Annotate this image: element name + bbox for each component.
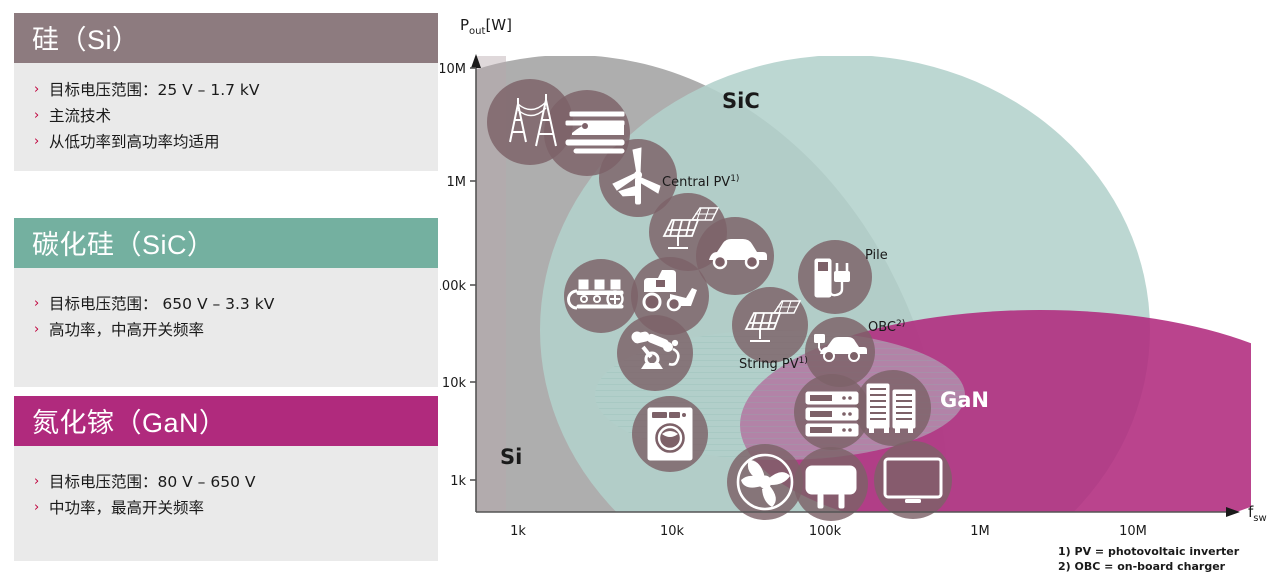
list-item: › 目标电压范围： 650 V – 3.3 kV <box>34 294 424 314</box>
node-label-central-pv: Central PV1) <box>662 174 739 190</box>
chevron-right-icon: › <box>34 294 49 313</box>
server-rack-icon <box>806 392 858 436</box>
card-si-bullet-2: 主流技术 <box>49 106 111 126</box>
footnote-1: 1) PV = photovoltaic inverter <box>1058 545 1240 558</box>
chevron-right-icon: › <box>34 132 49 151</box>
list-item: › 目标电压范围：25 V – 1.7 kV <box>34 80 424 100</box>
material-cards-panel: 硅（Si） › 目标电压范围：25 V – 1.7 kV › 主流技术 › 从低… <box>14 13 438 573</box>
card-gan-bullet-2: 中功率，最高开关频率 <box>49 498 204 518</box>
y-tick-100k: 100k <box>440 279 466 294</box>
x-axis-title: fsw[Hz] <box>1248 503 1267 524</box>
y-axis-ticks: 10M 1M 100k 10k 1k <box>440 62 476 489</box>
bubble-string-pv[interactable] <box>732 287 808 363</box>
list-item: › 从低功率到高功率均适用 <box>34 132 424 152</box>
footnote-2: 2) OBC = on-board charger <box>1058 560 1226 573</box>
card-gan-body: › 目标电压范围：80 V – 650 V › 中功率，最高开关频率 <box>14 446 438 561</box>
washing-machine-icon <box>648 408 692 460</box>
card-sic-bullet-1: 目标电压范围： 650 V – 3.3 kV <box>49 294 274 314</box>
technology-positioning-chart: Si SiC GaN <box>440 0 1267 584</box>
node-label-pile: Pile <box>865 248 888 263</box>
y-axis-title-sub: out <box>469 26 485 37</box>
x-tick-1k: 1k <box>510 524 526 539</box>
card-sic-body: › 目标电压范围： 650 V – 3.3 kV › 高功率，中高开关频率 <box>14 268 438 387</box>
y-tick-1M: 1M <box>447 175 467 190</box>
card-si: 硅（Si） › 目标电压范围：25 V – 1.7 kV › 主流技术 › 从低… <box>14 13 438 171</box>
chevron-right-icon: › <box>34 106 49 125</box>
card-si-bullet-3: 从低功率到高功率均适用 <box>49 132 220 152</box>
node-label-string-pv: String PV1) <box>739 356 808 372</box>
card-sic: 碳化硅（SiC） › 目标电压范围： 650 V – 3.3 kV › 高功率，… <box>14 218 438 387</box>
y-tick-10k: 10k <box>442 376 467 391</box>
list-item: › 中功率，最高开关频率 <box>34 498 424 518</box>
chevron-right-icon: › <box>34 320 49 339</box>
chevron-right-icon: › <box>34 472 49 491</box>
bubble-conveyor[interactable] <box>564 259 638 333</box>
svg-text:fsw[Hz]: fsw[Hz] <box>1248 503 1267 524</box>
card-si-header: 硅（Si） <box>14 13 438 63</box>
chart-footnotes: 1) PV = photovoltaic inverter 2) OBC = o… <box>1058 545 1240 573</box>
y-tick-1k: 1k <box>450 474 466 489</box>
x-tick-10k: 10k <box>660 524 685 539</box>
card-si-title: 硅（Si） <box>32 27 140 54</box>
region-label-sic: SiC <box>722 89 760 113</box>
card-si-body: › 目标电压范围：25 V – 1.7 kV › 主流技术 › 从低功率到高功率… <box>14 63 438 171</box>
card-gan-bullet-1: 目标电压范围：80 V – 650 V <box>49 472 255 492</box>
list-item: › 主流技术 <box>34 106 424 126</box>
y-axis-title-base: P <box>460 16 469 34</box>
y-axis-title-unit: [W] <box>485 16 512 34</box>
region-label-si: Si <box>500 445 522 469</box>
chevron-right-icon: › <box>34 80 49 99</box>
card-si-bullet-1: 目标电压范围：25 V – 1.7 kV <box>49 80 260 100</box>
card-gan-title: 氮化镓（GaN） <box>32 410 227 437</box>
x-tick-1M: 1M <box>970 524 990 539</box>
svg-text:Pout[W]: Pout[W] <box>460 16 512 37</box>
y-axis-title: Pout[W] <box>460 16 512 37</box>
x-tick-10M: 10M <box>1119 524 1147 539</box>
card-gan: 氮化镓（GaN） › 目标电压范围：80 V – 650 V › 中功率，最高开… <box>14 396 438 561</box>
card-sic-header: 碳化硅（SiC） <box>14 218 438 268</box>
x-tick-100k: 100k <box>809 524 842 539</box>
card-gan-header: 氮化镓（GaN） <box>14 396 438 446</box>
chevron-right-icon: › <box>34 498 49 517</box>
card-sic-bullet-2: 高功率，中高开关频率 <box>49 320 204 340</box>
x-axis-ticks: 1k 10k 100k 1M 10M <box>510 524 1147 539</box>
region-label-gan: GaN <box>940 388 989 412</box>
y-tick-10M: 10M <box>440 62 466 77</box>
list-item: › 高功率，中高开关频率 <box>34 320 424 340</box>
card-sic-title: 碳化硅（SiC） <box>32 232 215 259</box>
list-item: › 目标电压范围：80 V – 650 V <box>34 472 424 492</box>
x-axis-title-sub: sw <box>1253 513 1266 524</box>
